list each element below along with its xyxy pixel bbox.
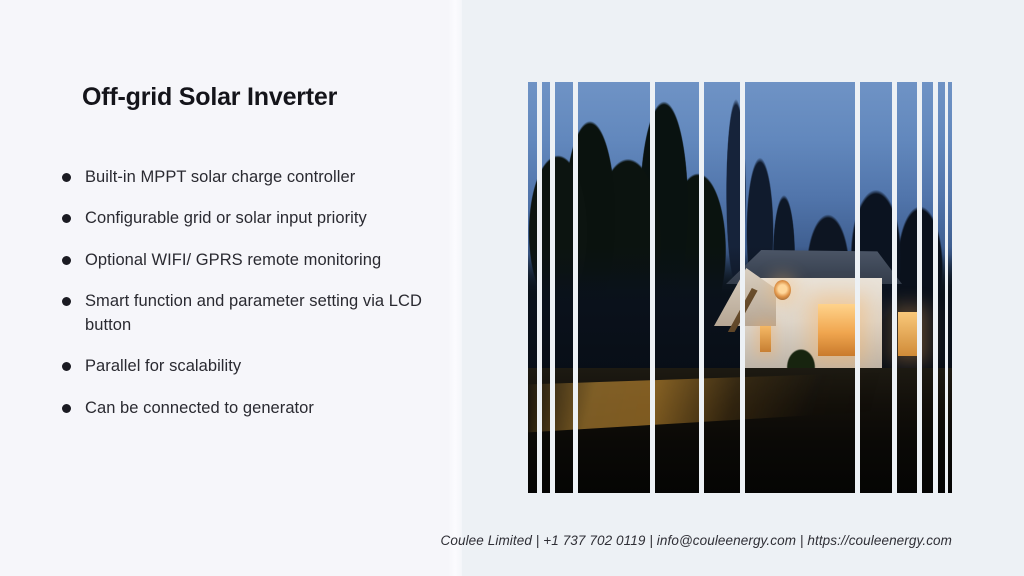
slide-root: Off-grid Solar Inverter Built-in MPPT so… bbox=[0, 0, 1024, 576]
bullet-icon bbox=[62, 362, 71, 371]
photo-strip bbox=[704, 82, 740, 493]
photo-strip bbox=[745, 82, 855, 493]
bullet-icon bbox=[62, 214, 71, 223]
bullet-icon bbox=[62, 256, 71, 265]
list-item-label: Parallel for scalability bbox=[85, 355, 241, 378]
list-item-label: Smart function and parameter setting via… bbox=[85, 290, 437, 337]
list-item: Can be connected to generator bbox=[62, 397, 482, 420]
bullet-icon bbox=[62, 404, 71, 413]
feature-list: Built-in MPPT solar charge controller Co… bbox=[62, 166, 482, 438]
photo-strip bbox=[948, 82, 952, 493]
photo-strip bbox=[555, 82, 573, 493]
page-title: Off-grid Solar Inverter bbox=[82, 83, 337, 112]
list-item: Optional WIFI/ GPRS remote monitoring bbox=[62, 249, 482, 272]
list-item: Parallel for scalability bbox=[62, 355, 482, 378]
list-item-label: Optional WIFI/ GPRS remote monitoring bbox=[85, 249, 381, 272]
photo-strip bbox=[655, 82, 699, 493]
photo-strip bbox=[542, 82, 550, 493]
list-item-label: Can be connected to generator bbox=[85, 397, 314, 420]
bullet-icon bbox=[62, 297, 71, 306]
list-item: Built-in MPPT solar charge controller bbox=[62, 166, 482, 189]
photo-strip bbox=[938, 82, 945, 493]
bullet-icon bbox=[62, 173, 71, 182]
list-item: Smart function and parameter setting via… bbox=[62, 290, 482, 337]
photo-strip bbox=[860, 82, 892, 493]
photo-strip bbox=[897, 82, 917, 493]
photo-strip bbox=[528, 82, 537, 493]
list-item-label: Built-in MPPT solar charge controller bbox=[85, 166, 355, 189]
photo-strip bbox=[578, 82, 650, 493]
photo-strip bbox=[922, 82, 933, 493]
list-item-label: Configurable grid or solar input priorit… bbox=[85, 207, 367, 230]
list-item: Configurable grid or solar input priorit… bbox=[62, 207, 482, 230]
contact-footer: Coulee Limited | +1 737 702 0119 | info@… bbox=[441, 533, 953, 548]
sliced-photo bbox=[528, 82, 952, 493]
